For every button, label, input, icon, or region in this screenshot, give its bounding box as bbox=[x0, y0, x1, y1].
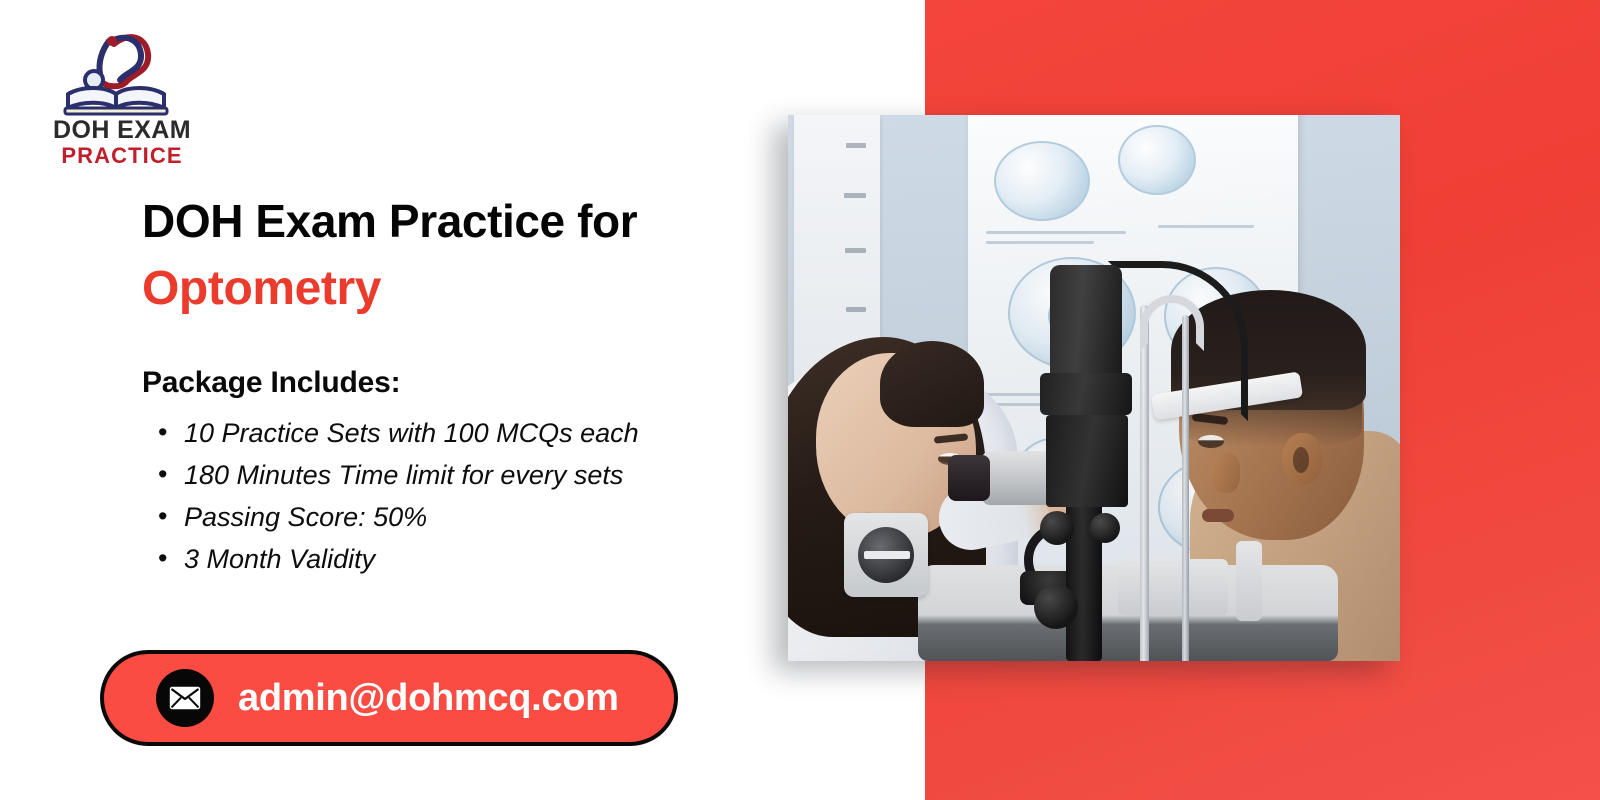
package-list: 10 Practice Sets with 100 MCQs each 180 … bbox=[142, 412, 802, 580]
list-item: Passing Score: 50% bbox=[142, 496, 802, 538]
promo-banner: DOH EXAM PRACTICE DOH Exam Practice for … bbox=[0, 0, 1600, 800]
page-title: DOH Exam Practice for Optometry bbox=[142, 196, 782, 317]
patient-nose bbox=[1210, 453, 1240, 493]
table-post bbox=[1236, 541, 1262, 621]
headline-line-1: DOH Exam Practice for bbox=[142, 196, 782, 248]
lamp-body-block bbox=[1046, 415, 1128, 507]
clinic-photo bbox=[788, 115, 1400, 661]
book-stethoscope-logo bbox=[52, 28, 184, 116]
contact-email-text: admin@dohmcq.com bbox=[238, 677, 619, 720]
lamp-head bbox=[1040, 373, 1132, 415]
brand-logo: DOH EXAM PRACTICE bbox=[52, 28, 192, 168]
patient-eye bbox=[1198, 435, 1224, 448]
lamp-dial bbox=[844, 513, 928, 597]
lamp-barrel bbox=[1050, 265, 1122, 385]
table-module bbox=[1118, 559, 1228, 615]
patient-lips bbox=[1202, 509, 1234, 522]
list-item: 10 Practice Sets with 100 MCQs each bbox=[142, 412, 802, 454]
contact-email-button[interactable]: admin@dohmcq.com bbox=[100, 650, 678, 746]
lamp-knob-lower bbox=[1034, 585, 1078, 629]
patient-ear bbox=[1282, 433, 1322, 485]
package-section: Package Includes: 10 Practice Sets with … bbox=[142, 366, 802, 580]
package-title: Package Includes: bbox=[142, 366, 802, 400]
logo-secondary-text: PRACTICE bbox=[52, 143, 192, 168]
list-item: 180 Minutes Time limit for every sets bbox=[142, 454, 802, 496]
clinic-photo-card bbox=[788, 115, 1400, 661]
lamp-knob-upper bbox=[1040, 511, 1074, 545]
envelope-icon bbox=[156, 669, 214, 727]
doctor-hair-front bbox=[880, 341, 984, 427]
list-item: 3 Month Validity bbox=[142, 538, 802, 580]
lamp-knob-side bbox=[1090, 513, 1120, 543]
logo-primary-text: DOH EXAM bbox=[52, 118, 192, 143]
headline-line-2: Optometry bbox=[142, 260, 782, 318]
